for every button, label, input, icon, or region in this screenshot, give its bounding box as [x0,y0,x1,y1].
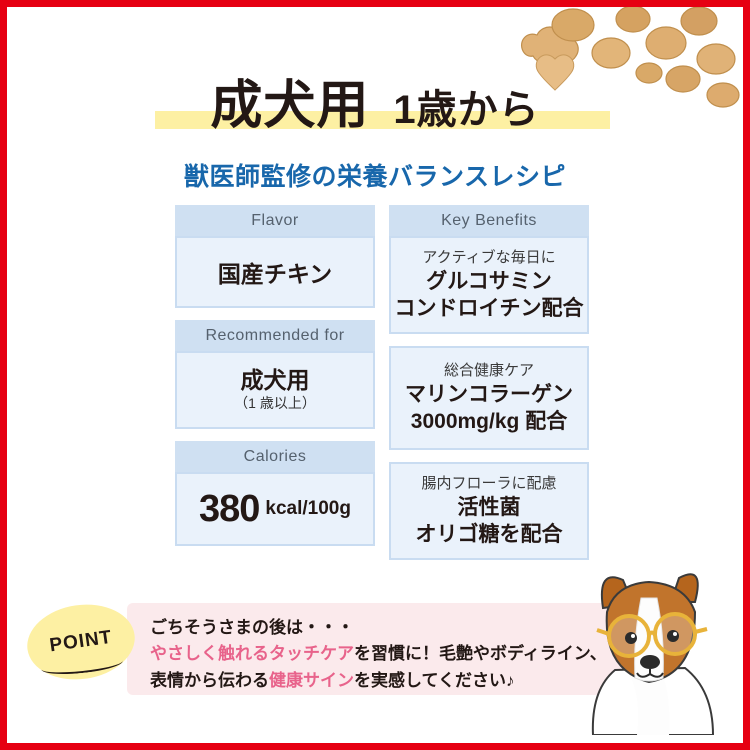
point-line-2-emphasis: やさしく触れるタッチケア [150,644,354,663]
benefit-cell-1: アクティブな毎日に グルコサミン コンドロイチン配合 [389,236,589,334]
calories-number: 380 [199,488,259,531]
benefit-3-lead: 腸内フローラに配慮 [421,474,556,494]
benefit-1-line1: グルコサミン [426,268,552,295]
headline-main: 成犬用 [204,63,375,138]
flyer-page: 成犬用1歳から 獣医師監修の栄養バランスレシピ Flavor 国産チキン Rec… [0,0,750,750]
recommended-note: （1 歳以上） [234,393,316,413]
spacer [389,450,589,462]
benefit-1-lead: アクティブな毎日に [422,248,555,268]
calories-unit: kcal/100g [265,498,351,520]
point-line-1-text: ごちそうさまの後は・・・ [150,618,354,637]
benefit-2-lead: 総合健康ケア [444,361,534,381]
point-line-3-tail: を実感してください♪ [354,671,514,690]
subheadline: 獣医師監修の栄養バランスレシピ [7,157,743,193]
recommended-header: Recommended for [175,320,375,351]
benefits-header: Key Benefits [389,205,589,236]
dog-illustration-icon [545,550,735,735]
spec-column-left: Flavor 国産チキン Recommended for 成犬用 （1 歳以上）… [175,205,375,560]
benefit-3-line2: オリゴ糖を配合 [416,521,563,548]
benefit-cell-3: 腸内フローラに配慮 活性菌 オリゴ糖を配合 [389,462,589,560]
calories-header: Calories [175,441,375,472]
flavor-header: Flavor [175,205,375,236]
benefit-1-line2: コンドロイチン配合 [395,295,584,322]
benefit-2-line1: マリンコラーゲン [405,381,573,408]
spec-grid: Flavor 国産チキン Recommended for 成犬用 （1 歳以上）… [175,205,589,560]
benefit-3-line1: 活性菌 [458,494,521,521]
point-line-3-emphasis: 健康サイン [269,671,354,690]
flavor-value: 国産チキン [218,255,332,289]
spec-column-right: Key Benefits アクティブな毎日に グルコサミン コンドロイチン配合 … [389,205,589,560]
flavor-value-cell: 国産チキン [175,236,375,308]
point-badge-label: POINT [48,627,114,658]
recommended-value: 成犬用 [241,367,310,393]
benefit-cell-2: 総合健康ケア マリンコラーゲン 3000mg/kg 配合 [389,346,589,450]
calories-value-cell: 380 kcal/100g [175,472,375,546]
benefit-2-line2: 3000mg/kg 配合 [411,408,567,435]
headline: 成犬用1歳から [7,63,743,138]
spacer [175,429,375,441]
point-line-3-text: 表情から伝わる [150,671,269,690]
recommended-value-cell: 成犬用 （1 歳以上） [175,351,375,429]
headline-sub: 1歳から [387,77,545,135]
spacer [175,308,375,320]
spacer [389,334,589,346]
